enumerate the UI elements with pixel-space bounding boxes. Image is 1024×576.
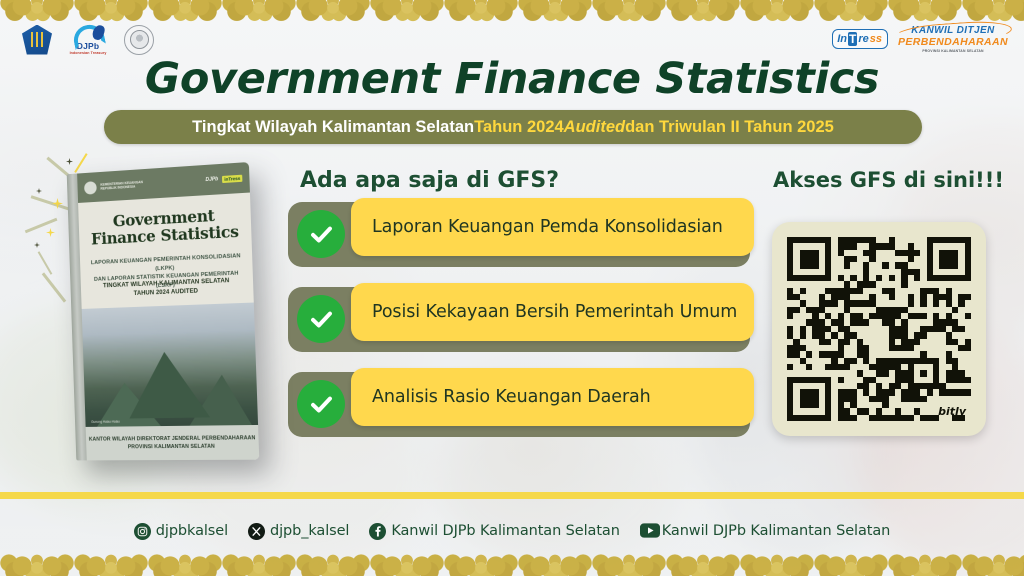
qr-brand-label: bitly [938, 405, 966, 418]
book-footer-line2: PROVINSI KALIMANTAN SELATAN [128, 443, 215, 452]
subtitle-part-year: Tahun 2024 [474, 119, 564, 136]
youtube-icon [640, 523, 657, 540]
features-heading: Ada apa saja di GFS? [300, 168, 559, 193]
ornament-motif [370, 554, 444, 576]
header-logos-left: DJPb Indonesian Treasury [22, 24, 154, 55]
qr-code-card[interactable]: bitly [772, 222, 986, 436]
check-icon [297, 210, 345, 258]
ornament-motif [444, 0, 518, 24]
book-cover-photo: Gunung Halau-Halau [82, 303, 258, 427]
ornament-motif [0, 0, 74, 24]
ornament-motif [370, 0, 444, 24]
social-handle: Kanwil DJPb Kalimantan Selatan [662, 523, 890, 539]
ornament-motif [962, 554, 1024, 576]
poster-canvas: DJPb Indonesian Treasury In T re ss KANW… [0, 0, 1024, 576]
footer-divider [0, 492, 1024, 499]
ornament-motif [888, 0, 962, 24]
intress-logo-in: In [837, 33, 847, 45]
feature-pill[interactable]: Laporan Keuangan Pemda Konsolidasian [351, 198, 754, 256]
kanwil-logo-line3: PROVINSI KALIMANTAN SELATAN [922, 50, 983, 53]
book-cover-mockup: KEMENTERIAN KEUANGAN REPUBLIK INDONESIA … [58, 160, 273, 470]
ornament-motif [592, 0, 666, 24]
facebook-icon [369, 523, 386, 540]
subtitle-part-region: Tingkat Wilayah Kalimantan Selatan [192, 119, 474, 136]
feature-label: Laporan Keuangan Pemda Konsolidasian [351, 217, 723, 237]
ornament-motif [518, 554, 592, 576]
book-badge-djpb: DJPb [205, 176, 218, 183]
ornament-motif [962, 0, 1024, 24]
subtitle-part-audited: Audited [564, 119, 625, 136]
book-title: Government Finance Statistics [78, 205, 251, 249]
page-title: Government Finance Statistics [0, 54, 1024, 104]
ornament-motif [222, 554, 296, 576]
ornament-motif [0, 554, 74, 576]
book-badge-intress: inTress [222, 174, 242, 182]
subtitle-banner: Tingkat Wilayah Kalimantan Selatan Tahun… [104, 110, 922, 144]
ornament-motif [148, 554, 222, 576]
intress-logo-re: re [858, 33, 868, 45]
list-item[interactable]: Posisi Kekayaan Bersih Pemerintah Umum [288, 287, 750, 352]
social-item-instagram[interactable]: djpbkalsel [134, 523, 228, 540]
social-item-facebook[interactable]: Kanwil DJPb Kalimantan Selatan [369, 523, 619, 540]
ornament-motif [518, 0, 592, 24]
feature-pill[interactable]: Analisis Rasio Keuangan Daerah [351, 368, 754, 426]
subtitle-part-quarter: dan Triwulan II Tahun 2025 [625, 119, 834, 136]
ornament-border-top [0, 0, 1024, 24]
instagram-icon [134, 523, 151, 540]
book-photo-credit: Gunung Halau-Halau [91, 420, 120, 424]
djpb-logo: DJPb Indonesian Treasury [65, 24, 111, 55]
check-icon [297, 380, 345, 428]
ornament-motif [740, 0, 814, 24]
kemenkeu-logo-icon [22, 25, 52, 55]
social-footer: djpbkalsel djpb_kalsel Kanwil DJPb Kalim… [0, 515, 1024, 547]
ornament-motif [296, 0, 370, 24]
ornament-motif [666, 0, 740, 24]
list-item[interactable]: Analisis Rasio Keuangan Daerah [288, 372, 750, 437]
ornament-motif [148, 0, 222, 24]
ornament-motif [592, 554, 666, 576]
qr-code[interactable] [787, 237, 971, 421]
x-twitter-icon [248, 523, 265, 540]
social-item-youtube[interactable]: Kanwil DJPb Kalimantan Selatan [640, 523, 890, 540]
social-handle: Kanwil DJPb Kalimantan Selatan [391, 523, 619, 539]
social-item-x[interactable]: djpb_kalsel [248, 523, 349, 540]
ornament-motif [222, 0, 296, 24]
feature-label: Posisi Kekayaan Bersih Pemerintah Umum [351, 302, 737, 322]
mountain-shape [127, 351, 210, 419]
kanwil-ditjen-logo: KANWIL DITJEN PERBENDAHARAAN PROVINSI KA… [898, 26, 1008, 53]
ornament-motif [666, 554, 740, 576]
provinsi-kalsel-logo-icon [124, 25, 154, 55]
header-logos-right: In T re ss KANWIL DITJEN PERBENDAHARAAN … [832, 26, 1008, 53]
ornament-motif [814, 0, 888, 24]
book-front-face: KEMENTERIAN KEUANGAN REPUBLIK INDONESIA … [77, 162, 259, 460]
ornament-motif [296, 554, 370, 576]
list-item[interactable]: Laporan Keuangan Pemda Konsolidasian [288, 202, 750, 267]
ornament-motif [74, 0, 148, 24]
ornament-motif [740, 554, 814, 576]
ornament-motif [74, 554, 148, 576]
djpb-swoosh-icon [71, 24, 105, 41]
ornament-motif [814, 554, 888, 576]
book-crest-icon [84, 181, 97, 195]
ornament-motif [888, 554, 962, 576]
intress-logo-ss: ss [870, 33, 882, 45]
intress-logo-t: T [848, 32, 857, 46]
feature-label: Analisis Rasio Keuangan Daerah [351, 387, 651, 407]
book-footer-band: KANTOR WILAYAH DIREKTORAT JENDERAL PERBE… [86, 425, 260, 460]
qr-heading: Akses GFS di sini!!! [773, 168, 1004, 192]
social-handle: djpbkalsel [156, 523, 228, 539]
book-cover: KEMENTERIAN KEUANGAN REPUBLIK INDONESIA … [67, 162, 260, 460]
check-icon [297, 295, 345, 343]
intress-logo: In T re ss [832, 29, 888, 49]
feature-pill[interactable]: Posisi Kekayaan Bersih Pemerintah Umum [351, 283, 754, 341]
feature-list: Laporan Keuangan Pemda Konsolidasian Pos… [288, 202, 750, 437]
ornament-border-bottom [0, 554, 1024, 576]
ornament-motif [444, 554, 518, 576]
social-handle: djpb_kalsel [270, 523, 349, 539]
